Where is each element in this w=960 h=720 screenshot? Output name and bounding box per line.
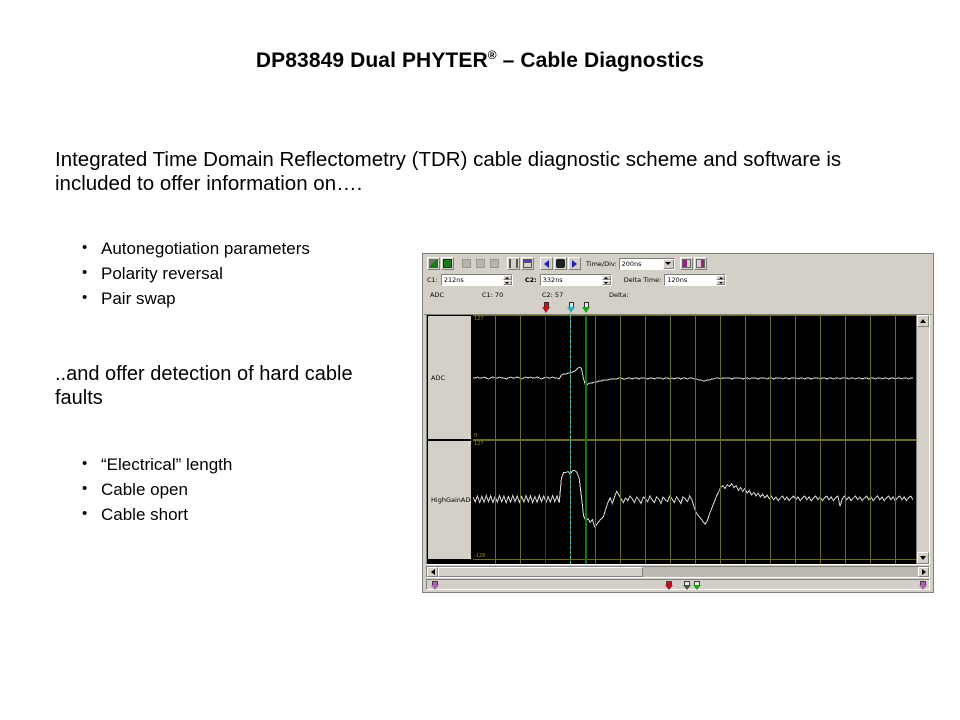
channel-label-adc[interactable]: ADC <box>427 315 472 440</box>
c1-stepper[interactable] <box>503 275 512 285</box>
page-title: DP83849 Dual PHYTER® – Cable Diagnostics <box>0 48 960 73</box>
status-c1: C1: 70 <box>482 291 503 299</box>
c1-time-value: 212ns <box>444 276 464 284</box>
track-marker-c3[interactable] <box>693 581 701 590</box>
list-item: “Electrical” length <box>82 452 232 477</box>
c2-time-value: 332ns <box>543 276 563 284</box>
cursor-line-c3[interactable] <box>585 315 587 564</box>
marker-right-button[interactable] <box>694 257 707 270</box>
delta-time-value: 120ns <box>667 276 687 284</box>
properties-button[interactable] <box>521 257 534 270</box>
vertical-scrollbar[interactable] <box>916 315 929 564</box>
timediv-select[interactable]: 200ns <box>619 258 675 270</box>
list-item: Cable open <box>82 477 232 502</box>
cursor-marker-strip[interactable] <box>424 301 932 315</box>
c2-label: C2: <box>525 276 537 284</box>
cursor-line-c1[interactable] <box>545 315 546 564</box>
chevron-down-icon[interactable] <box>663 259 674 269</box>
intro-paragraph: Integrated Time Domain Reflectometry (TD… <box>55 148 915 196</box>
list-item: Polarity reversal <box>82 261 310 286</box>
waveform-trace-highgainadc <box>473 440 913 560</box>
cursor-marker-c3[interactable] <box>582 302 591 313</box>
cut-button[interactable] <box>460 257 473 270</box>
paste-button[interactable] <box>488 257 501 270</box>
subheading: ..and offer detection of hard cable faul… <box>55 362 385 410</box>
c1-time-input[interactable]: 212ns <box>441 274 513 286</box>
scroll-right-button[interactable] <box>918 567 929 577</box>
scroll-left-button[interactable] <box>427 567 438 577</box>
waveform-viewer[interactable]: ADC HighGainADC 127 0 127 <box>426 314 930 565</box>
track-marker-c1[interactable] <box>665 581 673 590</box>
cursor-toolbar: C1: 212ns C2: 332ns Delta Time: 120ns <box>424 272 932 289</box>
cursor-line-c2[interactable] <box>570 315 571 564</box>
scroll-down-button[interactable] <box>917 552 929 564</box>
slide: DP83849 Dual PHYTER® – Cable Diagnostics… <box>0 0 960 720</box>
delta-time-input[interactable]: 120ns <box>664 274 726 286</box>
page-title-rest: – Cable Diagnostics <box>497 49 704 72</box>
status-channel: ADC <box>430 291 444 299</box>
c2-time-input[interactable]: 332ns <box>540 274 612 286</box>
find-icon[interactable] <box>554 257 567 270</box>
channel-label-column: ADC HighGainADC <box>427 315 472 564</box>
delta-time-label: Delta Time: <box>624 276 662 284</box>
channel-label-highgainadc[interactable]: HighGainADC <box>427 440 472 560</box>
cursor-marker-c2[interactable] <box>567 302 576 313</box>
marker-left-button[interactable] <box>680 257 693 270</box>
channel-label-text: HighGainADC <box>431 496 475 504</box>
cursor-track[interactable] <box>426 579 930 590</box>
timediv-value: 200ns <box>622 260 642 268</box>
c2-stepper[interactable] <box>602 275 611 285</box>
bullet-list-faults: “Electrical” length Cable open Cable sho… <box>82 452 232 527</box>
waveform-trace-adc <box>473 315 913 440</box>
list-item: Autonegotiation parameters <box>82 236 310 261</box>
timediv-label: Time/Div: <box>586 260 617 268</box>
plot-pane-adc[interactable]: 127 0 <box>473 315 916 440</box>
scroll-up-button[interactable] <box>917 315 929 327</box>
zoom-fit-button[interactable] <box>507 257 520 270</box>
delta-stepper[interactable] <box>716 275 725 285</box>
prev-cursor-button[interactable] <box>540 257 553 270</box>
next-cursor-button[interactable] <box>568 257 581 270</box>
page-title-main: DP83849 Dual PHYTER <box>256 49 488 72</box>
toolbar: Time/Div: 200ns <box>424 255 932 273</box>
copy-button[interactable] <box>474 257 487 270</box>
plot-canvas[interactable]: 127 0 127 -128 <box>473 315 916 564</box>
registered-mark: ® <box>488 48 497 62</box>
horizontal-scrollbar[interactable] <box>426 566 930 578</box>
bullet-list-capabilities: Autonegotiation parameters Polarity reve… <box>82 236 310 311</box>
track-marker-right[interactable] <box>919 581 927 590</box>
list-item: Cable short <box>82 502 232 527</box>
list-item: Pair swap <box>82 286 310 311</box>
open-button[interactable] <box>427 257 440 270</box>
status-bar: ADC C1: 70 C2: 57 Delta: <box>424 288 932 302</box>
tdr-software-window: Time/Div: 200ns C1: 212ns C2: 332ns <box>422 253 934 593</box>
window-client-area: Time/Div: 200ns C1: 212ns C2: 332ns <box>424 255 932 591</box>
save-button[interactable] <box>441 257 454 270</box>
track-marker-c2[interactable] <box>683 581 691 590</box>
status-delta: Delta: <box>609 291 629 299</box>
channel-label-text: ADC <box>431 374 445 382</box>
cursor-marker-c1[interactable] <box>542 302 551 313</box>
plot-pane-highgainadc[interactable]: 127 -128 <box>473 440 916 560</box>
track-marker-left[interactable] <box>431 581 439 590</box>
status-c2: C2: 57 <box>542 291 563 299</box>
scroll-thumb[interactable] <box>438 567 643 577</box>
c1-label: C1: <box>427 276 438 284</box>
